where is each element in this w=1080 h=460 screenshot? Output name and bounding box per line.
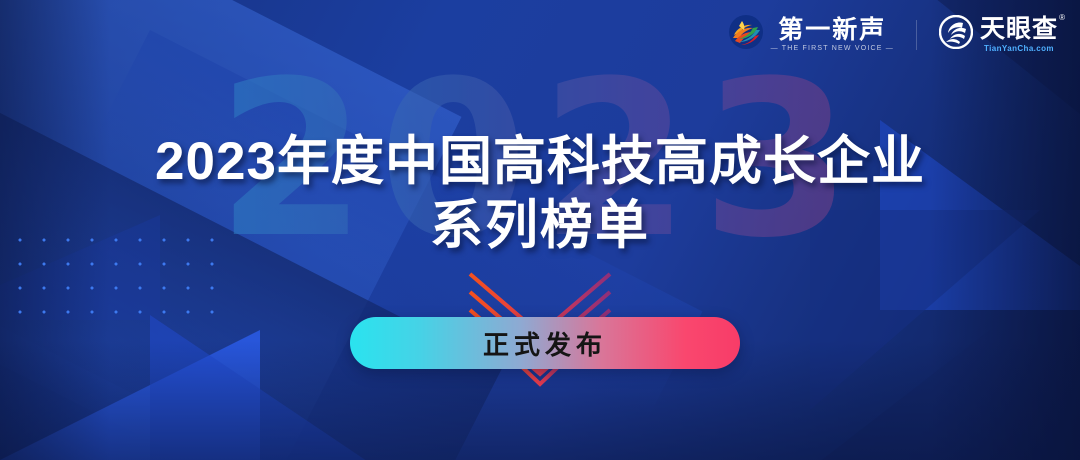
release-status-label: 正式发布 — [483, 325, 607, 362]
logo-tianyancha-name-text: 天眼查 — [980, 15, 1058, 43]
release-status-pill[interactable]: 正式发布 — [350, 317, 740, 369]
logo-tianyancha-tagline: TianYanCha.com — [984, 44, 1054, 53]
tianyancha-eye-icon — [939, 15, 973, 54]
headline-line-2: 系列榜单 — [0, 198, 1080, 254]
logo-first-new-voice[interactable]: 第一新声 — THE FIRST NEW VOICE — — [728, 14, 894, 55]
headline-line-1: 2023年度中国高科技高成长企业 — [0, 134, 1080, 190]
logo-divider — [916, 20, 917, 50]
logo-first-new-voice-tagline: — THE FIRST NEW VOICE — — [771, 45, 894, 52]
logo-group: 第一新声 — THE FIRST NEW VOICE — 天眼查 ® — [728, 14, 1058, 55]
promotional-banner: 2023 2023年度中国高科技高成长企业 系列榜单 — [0, 0, 1080, 460]
logo-first-new-voice-name: 第一新声 — [778, 17, 886, 43]
trademark-symbol: ® — [1059, 14, 1066, 22]
logo-tianyancha[interactable]: 天眼查 ® TianYanCha.com — [939, 15, 1058, 54]
page-title: 2023年度中国高科技高成长企业 系列榜单 — [0, 134, 1080, 254]
first-new-voice-swirl-icon — [728, 14, 764, 55]
logo-tianyancha-name: 天眼查 ® — [980, 16, 1058, 42]
